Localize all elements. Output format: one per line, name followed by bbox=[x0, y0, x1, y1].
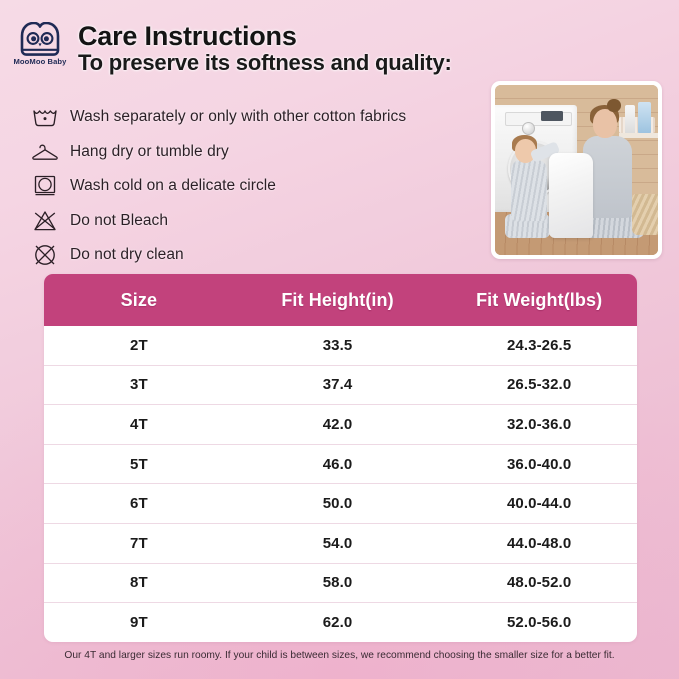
cell-size: 7T bbox=[44, 535, 234, 552]
cell-weight: 26.5-32.0 bbox=[441, 376, 637, 393]
cell-weight: 40.0-44.0 bbox=[441, 495, 637, 512]
table-row: 9T 62.0 52.0-56.0 bbox=[44, 602, 637, 642]
cell-weight: 44.0-48.0 bbox=[441, 535, 637, 552]
care-instructions-card: MooMoo Baby Care Instructions To preserv… bbox=[0, 0, 679, 679]
sizing-footnote: Our 4T and larger sizes run roomy. If yo… bbox=[0, 650, 679, 661]
cell-weight: 48.0-52.0 bbox=[441, 574, 637, 591]
table-header-row: Size Fit Height(in) Fit Weight(lbs) bbox=[44, 274, 637, 326]
cell-size: 9T bbox=[44, 614, 234, 631]
table-row: 4T 42.0 32.0-36.0 bbox=[44, 404, 637, 444]
care-item-label: Do not Bleach bbox=[70, 212, 168, 230]
column-header-height: Fit Height(in) bbox=[234, 290, 442, 311]
owl-logo-icon bbox=[18, 22, 62, 56]
care-item-label: Wash cold on a delicate circle bbox=[70, 177, 276, 195]
care-item-no-bleach: Do not Bleach bbox=[28, 204, 498, 239]
wash-tub-icon bbox=[28, 106, 62, 128]
table-row: 3T 37.4 26.5-32.0 bbox=[44, 365, 637, 405]
cell-size: 8T bbox=[44, 574, 234, 591]
laundry-photo-card bbox=[491, 81, 662, 259]
table-row: 7T 54.0 44.0-48.0 bbox=[44, 523, 637, 563]
cell-size: 2T bbox=[44, 337, 234, 354]
care-item-label: Hang dry or tumble dry bbox=[70, 143, 229, 161]
header: MooMoo Baby Care Instructions To preserv… bbox=[0, 0, 679, 86]
page-title: Care Instructions bbox=[78, 22, 452, 50]
size-chart-table: Size Fit Height(in) Fit Weight(lbs) 2T 3… bbox=[44, 274, 637, 642]
table-body: 2T 33.5 24.3-26.5 3T 37.4 26.5-32.0 4T 4… bbox=[44, 326, 637, 642]
cell-height: 42.0 bbox=[234, 416, 442, 433]
care-item-wash-separately: Wash separately or only with other cotto… bbox=[28, 100, 498, 135]
cell-size: 5T bbox=[44, 456, 234, 473]
cell-height: 50.0 bbox=[234, 495, 442, 512]
tumble-dry-icon bbox=[28, 174, 62, 198]
no-dry-clean-icon bbox=[28, 243, 62, 267]
brand-logo: MooMoo Baby bbox=[11, 22, 69, 74]
page-subtitle: To preserve its softness and quality: bbox=[78, 51, 452, 75]
cell-size: 6T bbox=[44, 495, 234, 512]
table-row: 2T 33.5 24.3-26.5 bbox=[44, 326, 637, 365]
cell-weight: 52.0-56.0 bbox=[441, 614, 637, 631]
cell-height: 58.0 bbox=[234, 574, 442, 591]
care-item-hang-dry: Hang dry or tumble dry bbox=[28, 135, 498, 170]
table-row: 8T 58.0 48.0-52.0 bbox=[44, 563, 637, 603]
cell-weight: 32.0-36.0 bbox=[441, 416, 637, 433]
no-bleach-icon bbox=[28, 209, 62, 233]
column-header-size: Size bbox=[44, 290, 234, 311]
care-item-wash-cold: Wash cold on a delicate circle bbox=[28, 169, 498, 204]
laundry-photo bbox=[495, 85, 658, 255]
table-row: 5T 46.0 36.0-40.0 bbox=[44, 444, 637, 484]
cell-weight: 24.3-26.5 bbox=[441, 337, 637, 354]
hanger-icon bbox=[28, 141, 62, 163]
care-item-no-dry-clean: Do not dry clean bbox=[28, 238, 498, 273]
care-item-label: Do not dry clean bbox=[70, 246, 184, 264]
column-header-weight: Fit Weight(lbs) bbox=[441, 290, 637, 311]
cell-height: 37.4 bbox=[234, 376, 442, 393]
cell-height: 54.0 bbox=[234, 535, 442, 552]
cell-height: 46.0 bbox=[234, 456, 442, 473]
cell-weight: 36.0-40.0 bbox=[441, 456, 637, 473]
brand-name: MooMoo Baby bbox=[14, 57, 67, 66]
cell-size: 3T bbox=[44, 376, 234, 393]
cell-height: 33.5 bbox=[234, 337, 442, 354]
cell-size: 4T bbox=[44, 416, 234, 433]
care-instructions-list: Wash separately or only with other cotto… bbox=[28, 100, 498, 273]
care-item-label: Wash separately or only with other cotto… bbox=[70, 108, 406, 126]
title-block: Care Instructions To preserve its softne… bbox=[78, 22, 452, 76]
cell-height: 62.0 bbox=[234, 614, 442, 631]
table-row: 6T 50.0 40.0-44.0 bbox=[44, 483, 637, 523]
